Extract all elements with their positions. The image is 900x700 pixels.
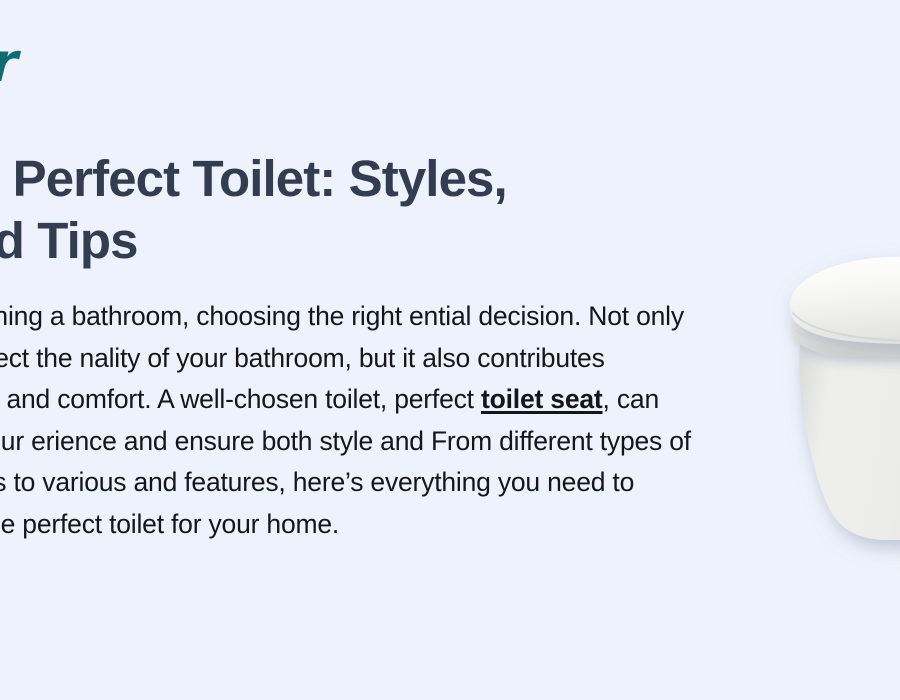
toilet-rim bbox=[791, 310, 900, 357]
brand-logo-text: quar bbox=[0, 36, 18, 90]
page-title: g the Perfect Toilet: Styles, s, and Tip… bbox=[0, 148, 742, 272]
article-viewport: quar g the Perfect Toilet: Styles, s, an… bbox=[0, 0, 900, 700]
article-stage: quar g the Perfect Toilet: Styles, s, an… bbox=[0, 0, 900, 700]
toilet-illustration-icon bbox=[762, 240, 900, 570]
toilet-lid-seam bbox=[792, 312, 900, 341]
article-paragraph: s to designing a bathroom, choosing the … bbox=[0, 296, 712, 545]
brand-logo[interactable]: quar bbox=[0, 30, 182, 96]
toilet-rim-seam bbox=[796, 330, 900, 357]
toilet-lid bbox=[790, 257, 900, 344]
toilet-seat-link[interactable]: toilet seat bbox=[481, 384, 603, 414]
hero-toilet-image bbox=[762, 240, 900, 570]
toilet-bowl bbox=[799, 336, 900, 540]
